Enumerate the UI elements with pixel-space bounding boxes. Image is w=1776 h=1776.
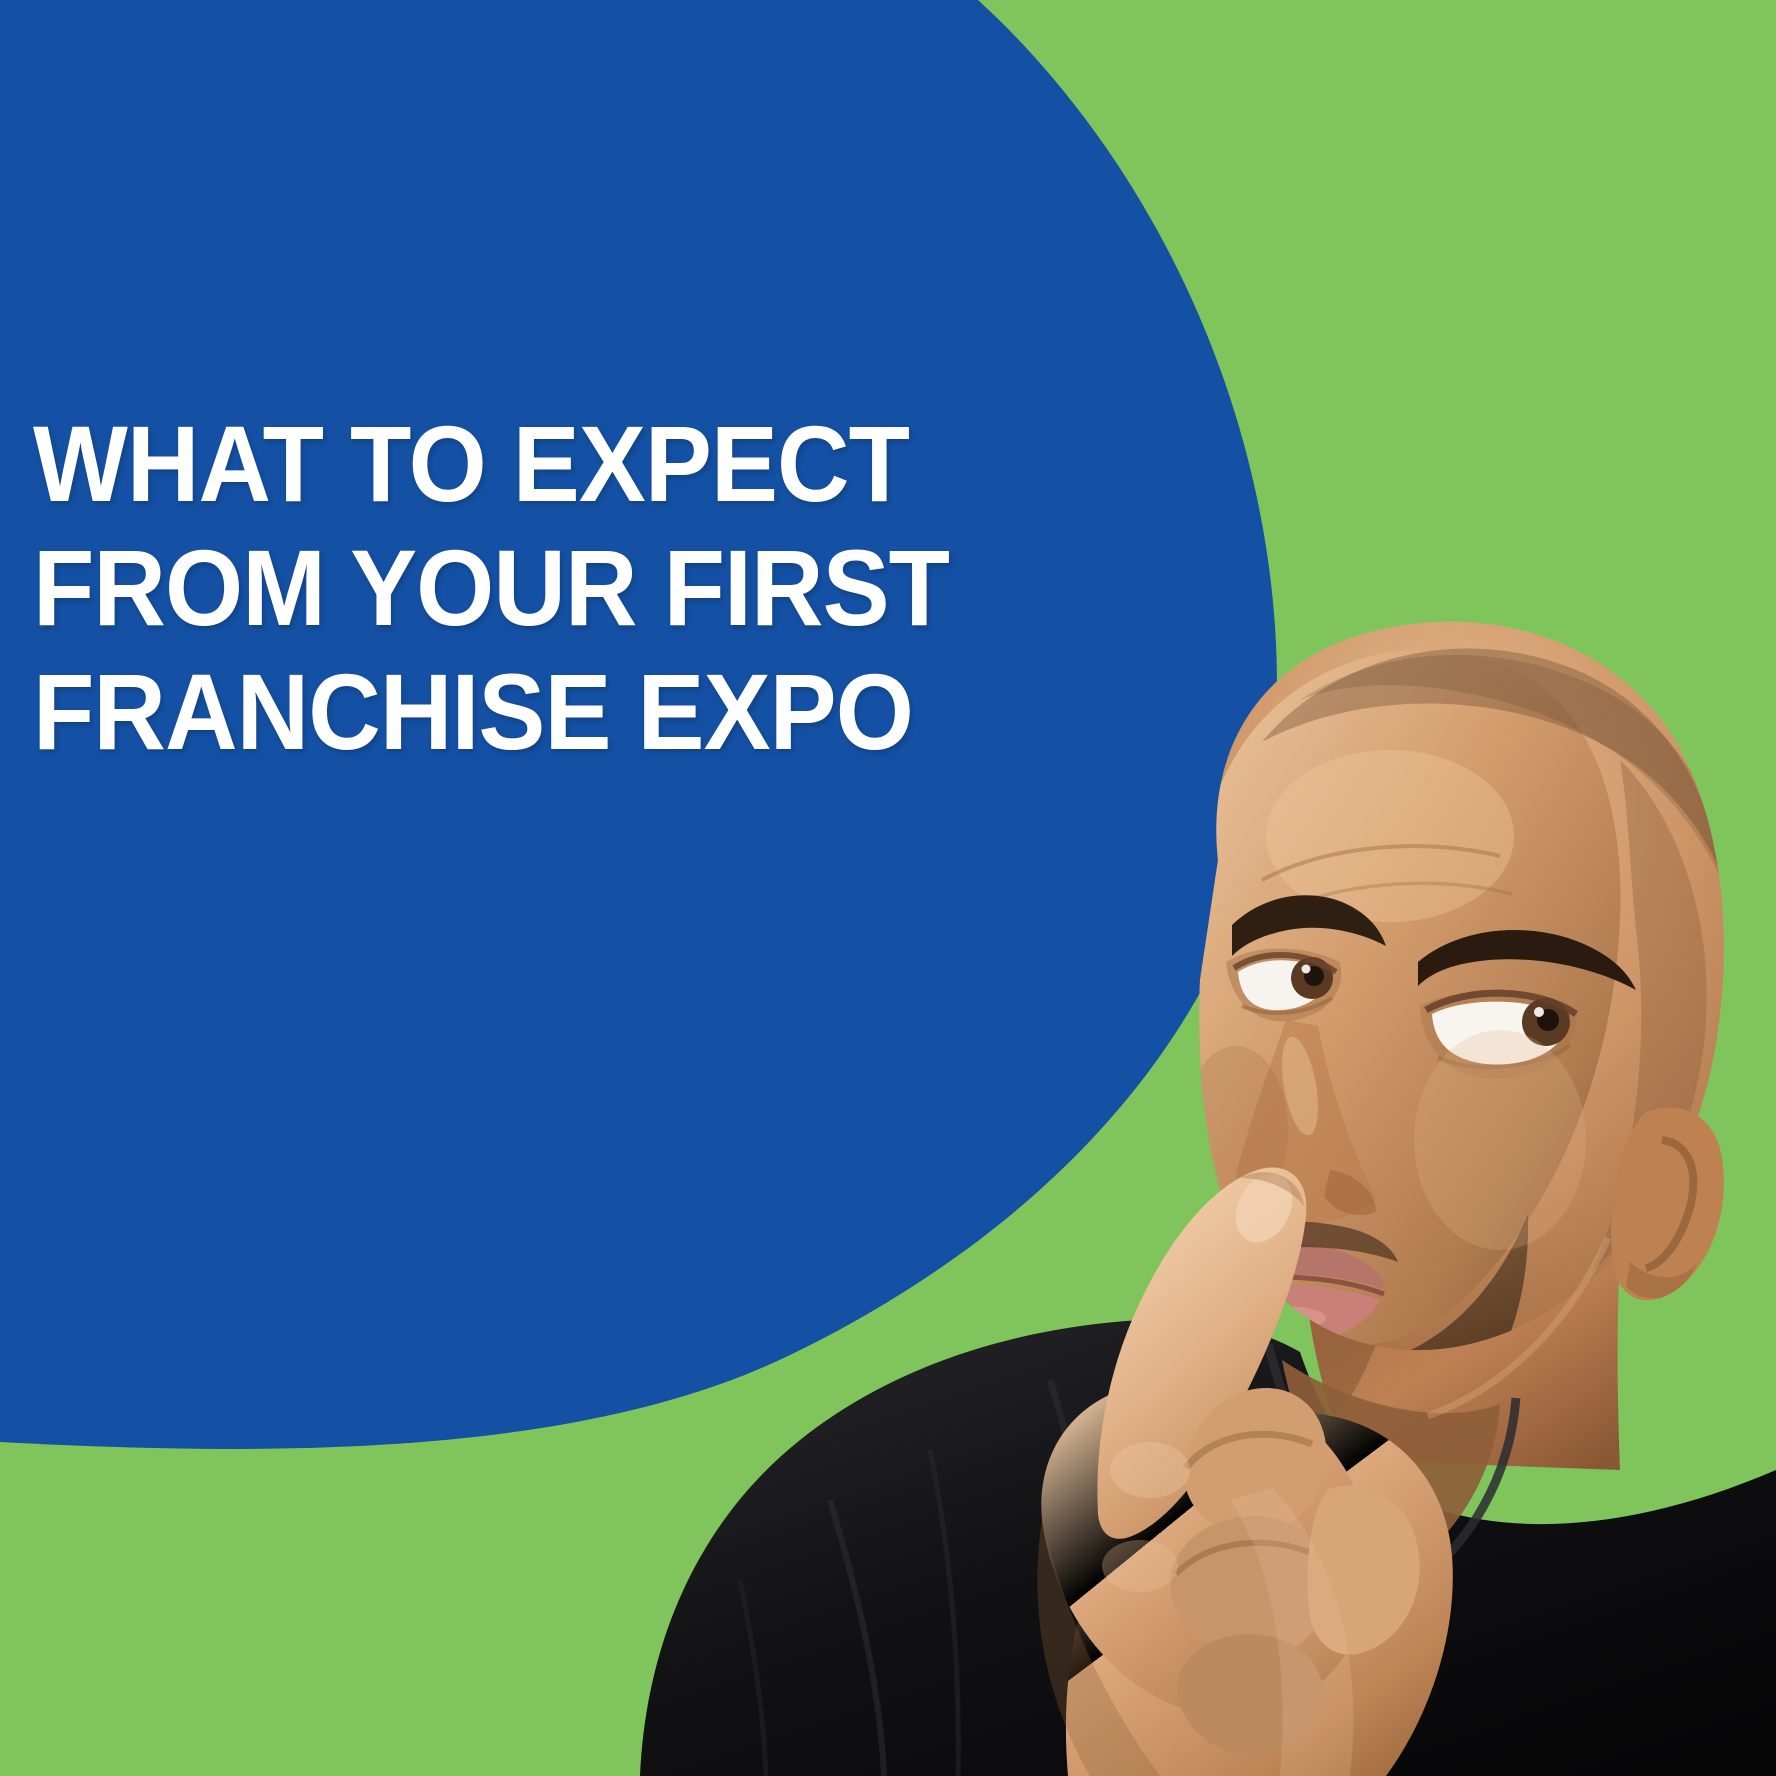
knuckle-highlight-1 — [1110, 1442, 1190, 1498]
headline-line-1: WHAT TO EXPECT — [33, 402, 949, 526]
headline-line-3: FRANCHISE EXPO — [33, 650, 949, 774]
eye-right-catchlight — [1534, 1007, 1544, 1017]
eye-left-catchlight — [1302, 965, 1311, 974]
knuckle-highlight-2 — [1102, 1540, 1178, 1592]
headline-line-2: FROM YOUR FIRST — [33, 526, 949, 650]
thoughtful-man-photo — [0, 0, 1776, 1776]
cheek-highlight-right — [1414, 1030, 1586, 1250]
social-graphic-canvas: WHAT TO EXPECT FROM YOUR FIRST FRANCHISE… — [0, 0, 1776, 1776]
page-title: WHAT TO EXPECT FROM YOUR FIRST FRANCHISE… — [33, 402, 949, 774]
